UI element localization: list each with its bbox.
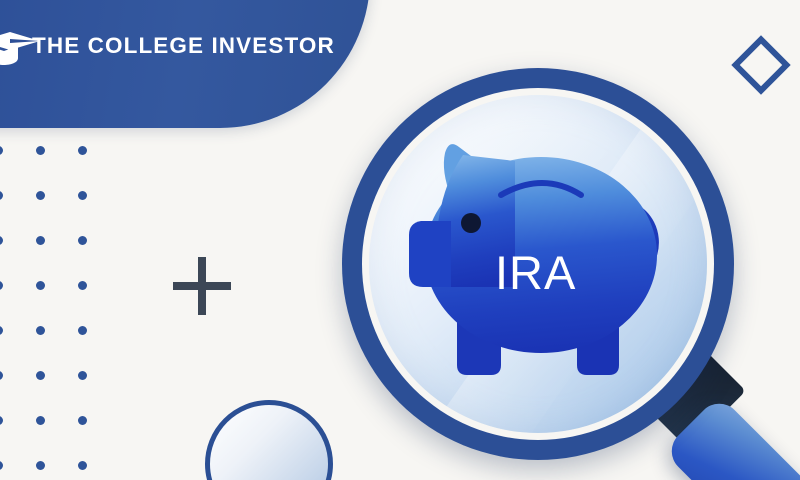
piggy-bank-icon: IRA <box>405 137 671 389</box>
grid-dot <box>36 281 45 290</box>
brand-title: THE COLLEGE INVESTOR <box>32 33 335 59</box>
brand-banner-content: THE COLLEGE INVESTOR <box>0 0 370 128</box>
grid-dot <box>36 191 45 200</box>
grid-dot <box>78 236 87 245</box>
grid-dot <box>36 371 45 380</box>
grid-dot <box>78 371 87 380</box>
grid-dot <box>36 416 45 425</box>
grid-dot <box>78 146 87 155</box>
grid-dot <box>78 326 87 335</box>
grid-dot <box>0 281 3 290</box>
grid-dot <box>78 281 87 290</box>
magnifier-ring-inner: IRA <box>362 88 714 440</box>
gradient-circle-decoration <box>205 400 333 480</box>
brand-banner: THE COLLEGE INVESTOR <box>0 0 370 128</box>
hero-graphic-canvas: THE COLLEGE INVESTOR <box>0 0 800 480</box>
grid-dot <box>36 461 45 470</box>
grid-dot <box>36 326 45 335</box>
grid-dot <box>0 236 3 245</box>
grid-dot <box>36 236 45 245</box>
grid-dot <box>0 191 3 200</box>
dot-grid-decoration <box>0 146 114 466</box>
magnifying-glass-icon: IRA <box>330 22 800 480</box>
grid-dot <box>0 326 3 335</box>
piggy-bank-label: IRA <box>495 245 576 300</box>
grid-dot <box>78 461 87 470</box>
grid-dot <box>78 191 87 200</box>
plus-mark-decoration <box>173 257 231 315</box>
grid-dot <box>0 146 3 155</box>
plus-vertical-bar <box>198 257 206 315</box>
grid-dot <box>0 416 3 425</box>
grid-dot <box>36 146 45 155</box>
magnifier-ring: IRA <box>342 68 734 460</box>
magnifier-lens: IRA <box>369 95 707 433</box>
grid-dot <box>0 371 3 380</box>
grid-dot <box>78 416 87 425</box>
grid-dot <box>0 461 3 470</box>
